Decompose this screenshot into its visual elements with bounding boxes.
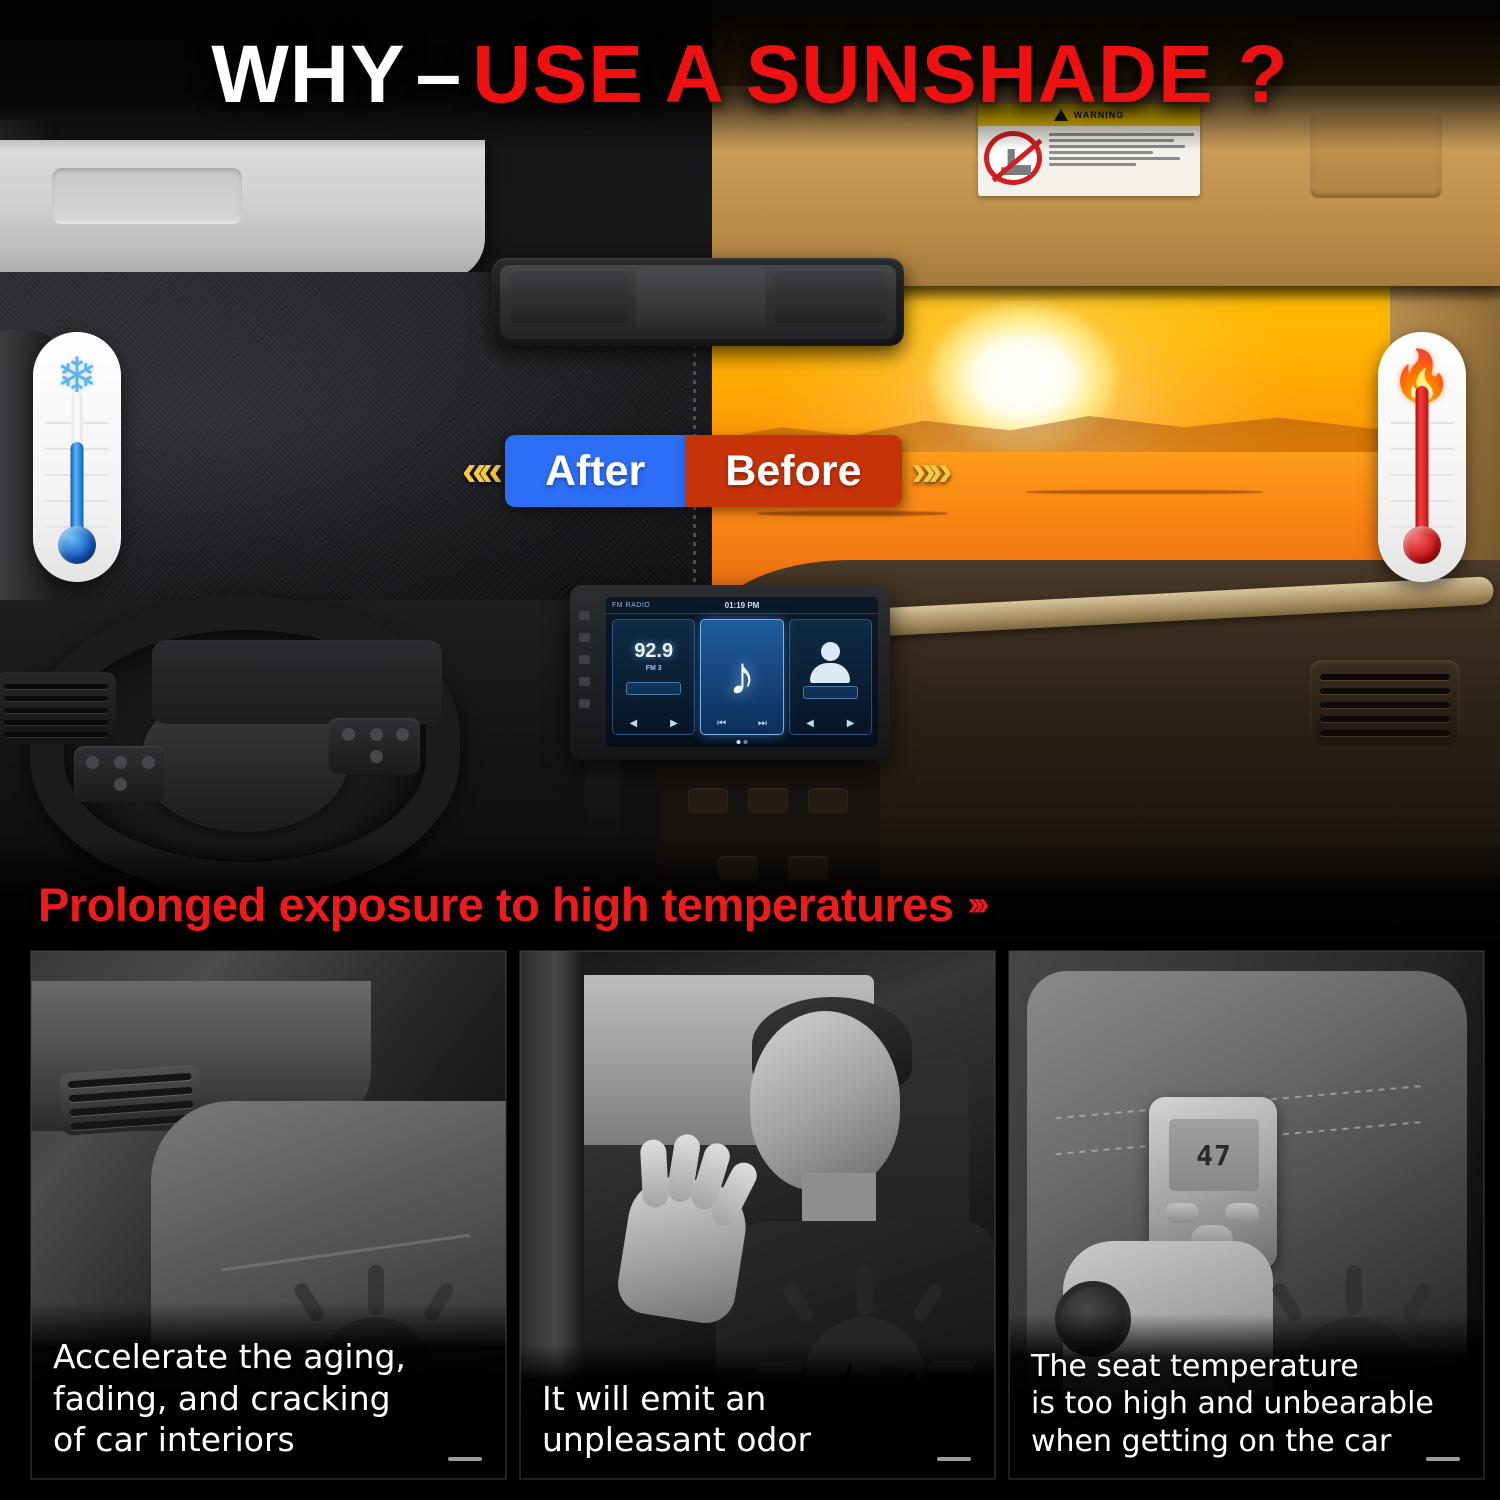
radio-prev-button[interactable]: ◀ <box>629 718 637 729</box>
panel-caption: The seat temperature is too high and unb… <box>1031 1348 1462 1461</box>
page-title: WHY–USE A SUNSHADE ? <box>0 34 1500 116</box>
radio-preset: FM 3 <box>613 665 694 672</box>
panel-caption-box: The seat temperature is too high and unb… <box>1009 1314 1484 1479</box>
person-icon <box>810 642 850 683</box>
panel-caption-box: It will emit an unpleasant odor <box>520 1344 995 1479</box>
radio-frequency: 92.9 <box>613 640 694 663</box>
title-dash: – <box>406 29 473 120</box>
panel-unpleasant-odor: It will emit an unpleasant odor <box>519 950 996 1480</box>
hot-bulb <box>1403 526 1441 564</box>
music-note-icon: ♪ <box>701 649 782 703</box>
before-after-toggle[interactable]: «« After Before »» <box>452 432 954 510</box>
infotainment-unit: FM RADIO 01:19 PM 92.9 FM 3 ◀ ▶ ♪ <box>570 585 890 760</box>
infographic-root: WARNING <box>0 0 1500 1500</box>
phone-next-button[interactable]: ▶ <box>847 718 855 729</box>
caption-dash <box>1426 1457 1460 1461</box>
clock-display: 01:19 PM <box>725 601 760 610</box>
panel-aging-fading-cracking: Accelerate the aging, fading, and cracki… <box>30 950 507 1480</box>
steering-controls-left[interactable] <box>74 746 166 802</box>
phone-prev-button[interactable]: ◀ <box>806 718 814 729</box>
sunshade-slot <box>52 168 242 224</box>
person-head <box>750 1011 900 1191</box>
thermometer-display: 47 <box>1169 1119 1259 1191</box>
screen-status-bar: FM RADIO 01:19 PM <box>606 597 878 614</box>
radio-card[interactable]: 92.9 FM 3 ◀ ▶ <box>612 619 695 735</box>
steering-wheel-hub <box>142 692 348 832</box>
sunshade-panel <box>0 140 485 280</box>
caption-dash <box>937 1457 971 1461</box>
after-badge[interactable]: After <box>505 435 685 507</box>
air-vent-right <box>1310 660 1460 746</box>
steering-controls-right[interactable] <box>328 718 420 774</box>
phone-card[interactable]: ◀ ▶ <box>789 619 872 735</box>
chevron-triple-icon: ››› <box>967 885 983 924</box>
title-word-why: WHY <box>211 29 405 120</box>
chevron-right-icon: »» <box>902 449 955 493</box>
screen-mount-bracket <box>585 755 621 845</box>
air-vent-left <box>0 672 116 744</box>
panel-caption: Accelerate the aging, fading, and cracki… <box>53 1336 484 1461</box>
chevron-left-icon: «« <box>452 449 505 493</box>
title-word-accent: USE A SUNSHADE ? <box>472 29 1288 120</box>
hot-mercury-column <box>1416 386 1429 538</box>
infotainment-side-buttons[interactable] <box>579 611 590 708</box>
page-indicator <box>737 740 748 744</box>
thermometer-reading: 47 <box>1196 1139 1232 1172</box>
cold-bulb <box>58 526 96 564</box>
radio-source-label: FM RADIO <box>612 602 650 609</box>
infotainment-screen[interactable]: FM RADIO 01:19 PM 92.9 FM 3 ◀ ▶ ♪ <box>606 597 878 747</box>
hot-thermometer: 🔥 <box>1378 332 1466 582</box>
rear-view-mirror <box>492 258 904 346</box>
phone-pill[interactable] <box>803 686 858 699</box>
cold-mercury-column <box>71 442 84 538</box>
hero-split-comparison: WARNING <box>0 0 1500 950</box>
consequence-panels: Accelerate the aging, fading, and cracki… <box>0 950 1500 1500</box>
media-forward-button[interactable]: ⏭ <box>758 718 767 729</box>
media-rewind-button[interactable]: ⏮ <box>717 718 726 729</box>
panel-caption: It will emit an unpleasant odor <box>542 1378 973 1461</box>
subheading-text: Prolonged exposure to high temperatures <box>38 877 953 932</box>
subheading: Prolonged exposure to high temperatures … <box>38 877 983 932</box>
caption-dash <box>448 1457 482 1461</box>
radio-next-button[interactable]: ▶ <box>670 718 678 729</box>
mirror-glass <box>500 265 896 339</box>
dash-binnacle <box>152 640 442 724</box>
panel-caption-box: Accelerate the aging, fading, and cracki… <box>31 1302 506 1479</box>
media-card[interactable]: ♪ ⏮ ⏭ <box>700 619 783 735</box>
before-badge[interactable]: Before <box>685 435 901 507</box>
band-pill[interactable] <box>626 682 681 695</box>
cold-thermometer: ❄ <box>33 332 121 582</box>
panel-seat-too-hot: 47 The seat temperature is too hi <box>1008 950 1485 1480</box>
